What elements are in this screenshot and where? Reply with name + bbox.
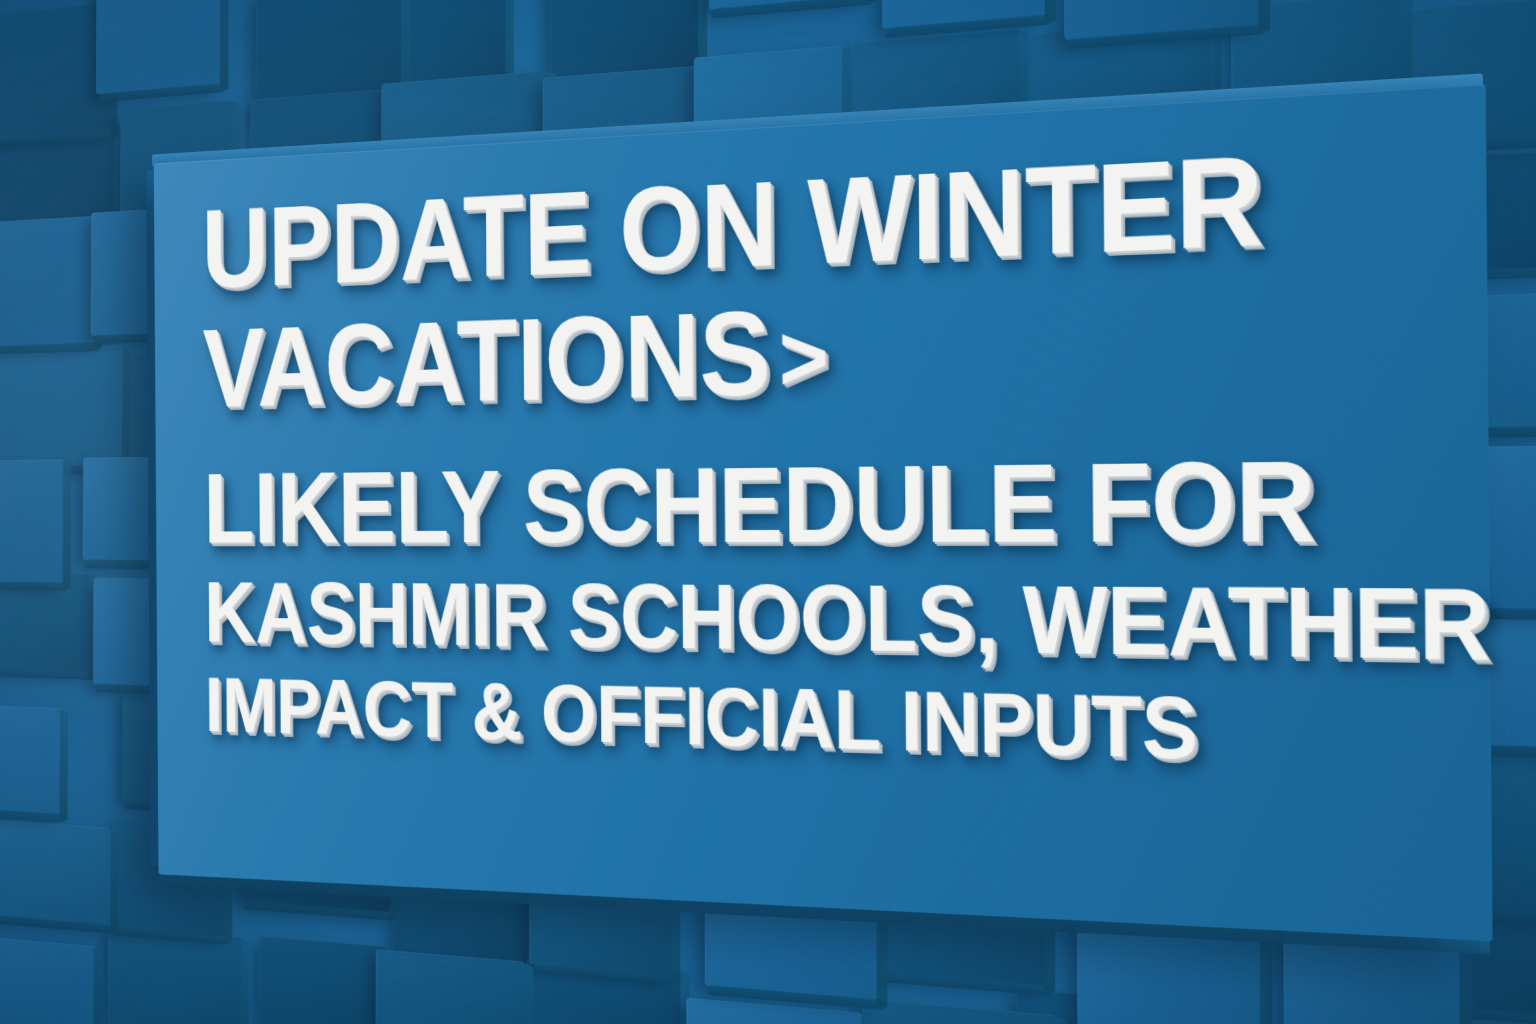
cube-tile	[0, 460, 63, 584]
chevron-right-icon: >	[770, 310, 828, 405]
cube-tile	[863, 1000, 1057, 1024]
cube-tile	[526, 957, 681, 1024]
billboard-panel: UPDATE ON WINTER VACATIONS> LIKELY SCHED…	[117, 9, 1524, 985]
cube-tile	[882, 0, 1046, 29]
billboard-scene: UPDATE ON WINTER VACATIONS> LIKELY SCHED…	[0, 0, 1536, 1024]
headline-line-2-text: VACATIONS	[202, 286, 771, 431]
cube-tile	[375, 949, 524, 1024]
headline-block: UPDATE ON WINTER VACATIONS> LIKELY SCHED…	[202, 128, 1454, 790]
cube-tile	[0, 216, 95, 348]
headline-line-4: KASHMIR SCHOOLS, WEATHER	[204, 571, 1250, 672]
cube-tile	[0, 934, 94, 1024]
billboard-panel-wrapper: UPDATE ON WINTER VACATIONS> LIKELY SCHED…	[86, 62, 1416, 942]
headline-line-3: LIKELY SCHEDULE FOR	[203, 445, 1249, 559]
cube-tile	[709, 0, 867, 10]
cube-tile	[0, 704, 61, 815]
cube-tile	[258, 936, 386, 1024]
